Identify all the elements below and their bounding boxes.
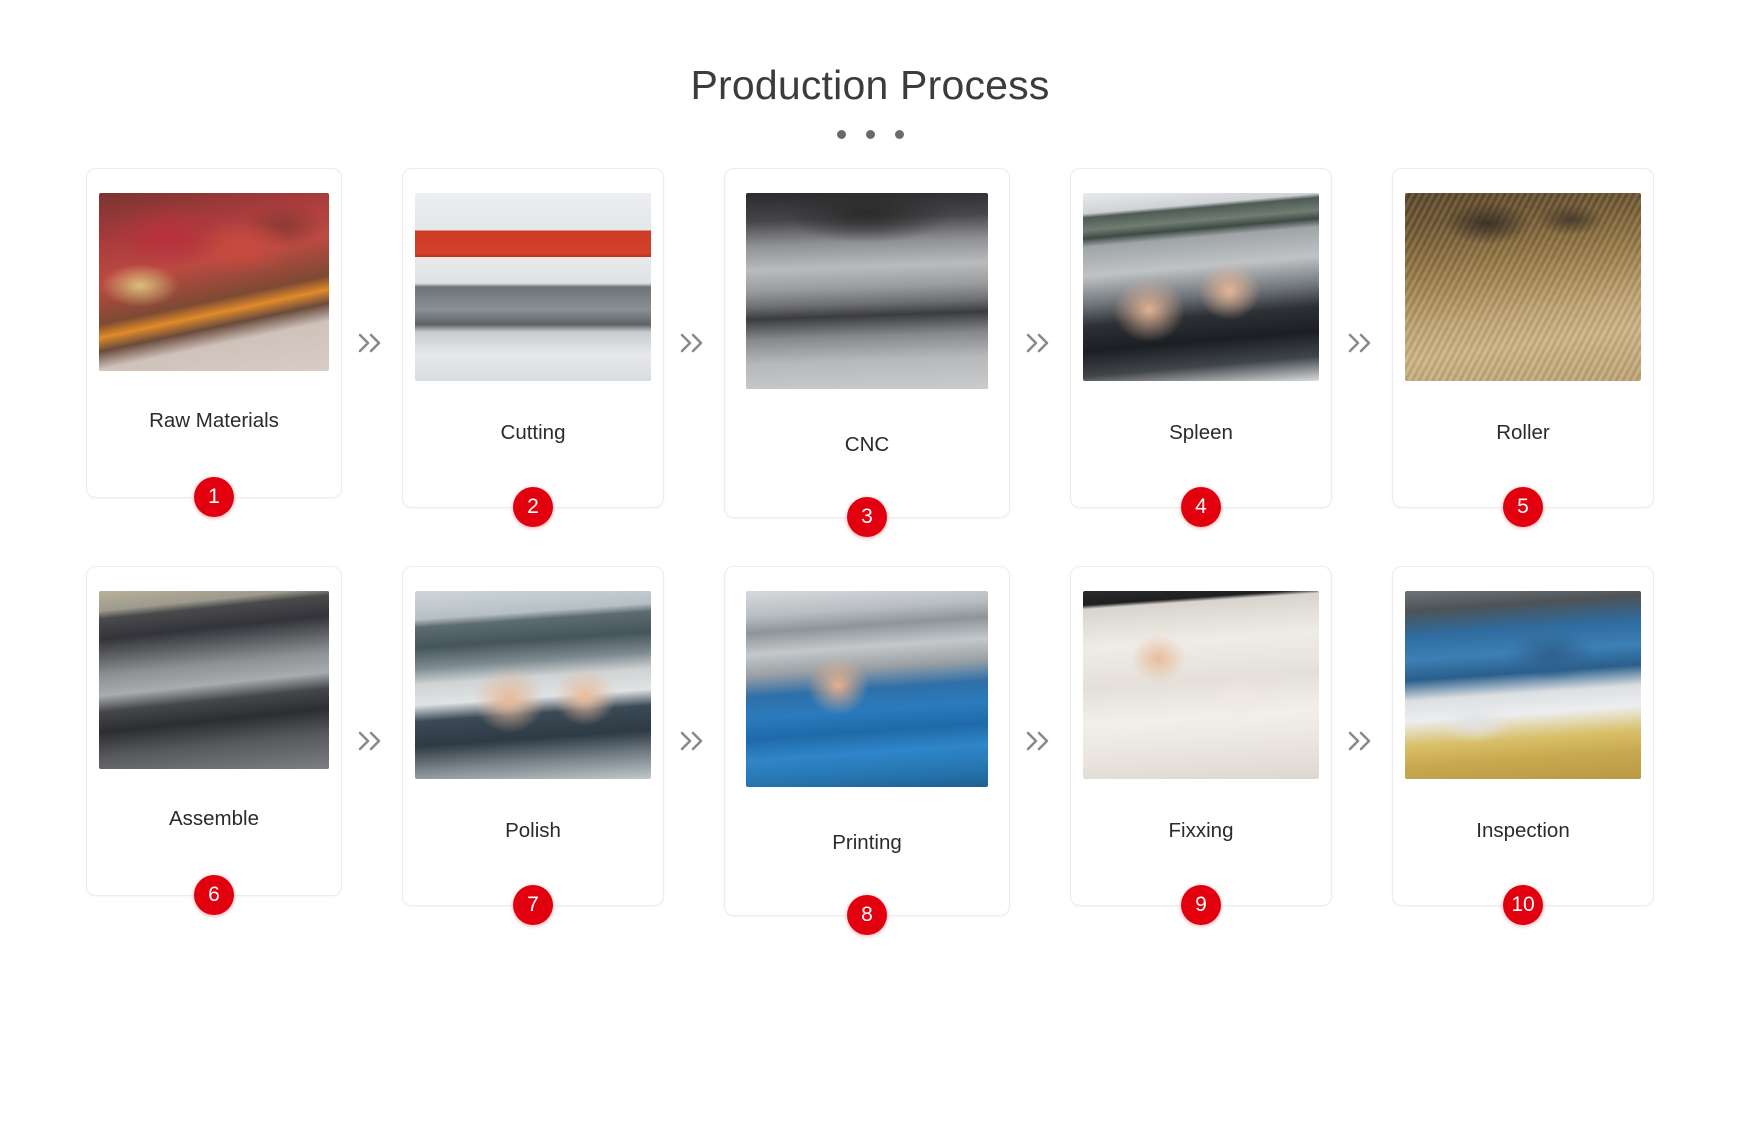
process-step-card[interactable]: Polish7	[402, 566, 664, 906]
raw-materials-photo	[99, 193, 329, 371]
process-step-number-badge: 8	[847, 895, 887, 935]
double-chevron-right-icon	[342, 168, 402, 518]
process-step-number-badge: 2	[513, 487, 553, 527]
cutting-photo	[415, 193, 651, 381]
printing-photo	[746, 591, 988, 787]
double-chevron-right-icon	[664, 566, 724, 916]
assemble-photo	[99, 591, 329, 769]
process-step-number-badge: 10	[1503, 885, 1543, 925]
page-title: Production Process	[0, 62, 1740, 109]
cnc-photo	[746, 193, 988, 389]
decorative-dot-icon	[895, 130, 904, 139]
decorative-dots	[0, 128, 1740, 140]
process-step-label: Raw Materials	[149, 409, 279, 433]
process-step-label: Printing	[832, 831, 902, 855]
process-step-number-badge: 5	[1503, 487, 1543, 527]
process-step-image	[1083, 591, 1319, 779]
process-row: Assemble6Polish7Printing8Fixxing9Inspect…	[86, 566, 1654, 916]
process-step-number-badge: 1	[194, 477, 234, 517]
process-step-image	[415, 591, 651, 779]
process-step: Spleen4	[1070, 168, 1332, 508]
process-step-image	[415, 193, 651, 381]
decorative-dot-icon	[837, 130, 846, 139]
process-step-card[interactable]: Cutting2	[402, 168, 664, 508]
process-step-label: Cutting	[501, 421, 566, 445]
process-step-card[interactable]: Raw Materials1	[86, 168, 342, 498]
production-process-page: Production Process Raw Materials1Cutting…	[0, 0, 1740, 1134]
process-step-card[interactable]: Fixxing9	[1070, 566, 1332, 906]
spleen-photo	[1083, 193, 1319, 381]
process-step-label: Roller	[1496, 421, 1550, 445]
process-step: Cutting2	[402, 168, 664, 508]
decorative-dot-icon	[866, 130, 875, 139]
process-step-number-badge: 3	[847, 497, 887, 537]
process-step-label: Polish	[505, 819, 561, 843]
process-step-image	[746, 591, 988, 787]
double-chevron-right-icon	[1010, 566, 1070, 916]
process-step-label: Spleen	[1169, 421, 1233, 445]
process-step-card[interactable]: Printing8	[724, 566, 1010, 916]
process-step: Inspection10	[1392, 566, 1654, 906]
process-step-card[interactable]: CNC3	[724, 168, 1010, 518]
roller-photo	[1405, 193, 1641, 381]
process-step-card[interactable]: Inspection10	[1392, 566, 1654, 906]
process-step: Fixxing9	[1070, 566, 1332, 906]
process-step-image	[1405, 193, 1641, 381]
process-step-number-badge: 4	[1181, 487, 1221, 527]
process-step-label: Fixxing	[1169, 819, 1234, 843]
fixxing-photo	[1083, 591, 1319, 779]
process-step: Assemble6	[86, 566, 342, 896]
process-step-card[interactable]: Roller5	[1392, 168, 1654, 508]
process-step-image	[746, 193, 988, 389]
double-chevron-right-icon	[342, 566, 402, 916]
process-row: Raw Materials1Cutting2CNC3Spleen4Roller5	[86, 168, 1654, 518]
process-step: Raw Materials1	[86, 168, 342, 498]
double-chevron-right-icon	[664, 168, 724, 518]
process-step-card[interactable]: Spleen4	[1070, 168, 1332, 508]
process-step-label: Inspection	[1476, 819, 1569, 843]
inspection-photo	[1405, 591, 1641, 779]
polish-photo	[415, 591, 651, 779]
process-step-image	[99, 591, 329, 769]
page-header: Production Process	[0, 0, 1740, 140]
process-step-number-badge: 9	[1181, 885, 1221, 925]
process-rows: Raw Materials1Cutting2CNC3Spleen4Roller5…	[0, 168, 1740, 916]
process-step-label: Assemble	[169, 807, 259, 831]
process-step-label: CNC	[845, 433, 889, 457]
process-step: Polish7	[402, 566, 664, 906]
double-chevron-right-icon	[1332, 566, 1392, 916]
process-step: Roller5	[1392, 168, 1654, 508]
process-step-image	[99, 193, 329, 371]
process-step-card[interactable]: Assemble6	[86, 566, 342, 896]
double-chevron-right-icon	[1010, 168, 1070, 518]
process-step-number-badge: 6	[194, 875, 234, 915]
process-step-image	[1083, 193, 1319, 381]
double-chevron-right-icon	[1332, 168, 1392, 518]
process-step-image	[1405, 591, 1641, 779]
process-step: Printing8	[724, 566, 1010, 916]
process-step: CNC3	[724, 168, 1010, 518]
process-step-number-badge: 7	[513, 885, 553, 925]
